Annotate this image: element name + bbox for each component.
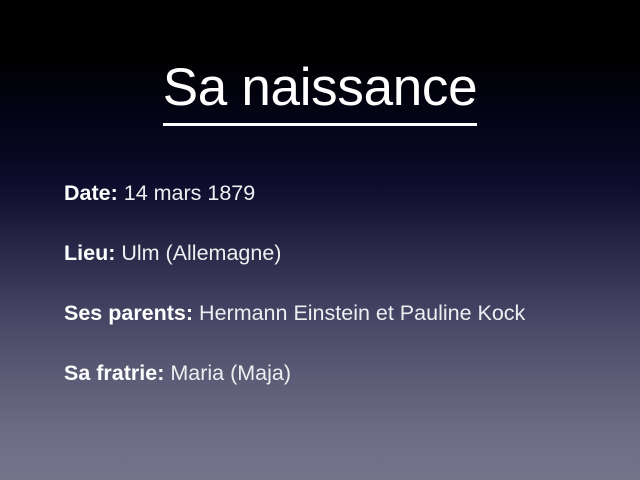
fact-value-fratrie: Maria (Maja) <box>170 361 291 385</box>
fact-row-date: Date: 14 mars 1879 <box>64 178 546 208</box>
fact-label-date: Date: <box>64 181 118 205</box>
fact-row-fratrie: Sa fratrie: Maria (Maja) <box>64 358 546 388</box>
fact-row-lieu: Lieu: Ulm (Allemagne) <box>64 238 546 268</box>
fact-value-parents: Hermann Einstein et Pauline Kock <box>199 301 525 325</box>
presentation-slide: Sa naissance Date: 14 mars 1879 Lieu: Ul… <box>0 0 640 480</box>
fact-value-lieu: Ulm (Allemagne) <box>121 241 281 265</box>
fact-row-parents: Ses parents: Hermann Einstein et Pauline… <box>64 298 546 328</box>
fact-value-date: 14 mars 1879 <box>124 181 255 205</box>
fact-label-parents: Ses parents: <box>64 301 193 325</box>
fact-label-lieu: Lieu: <box>64 241 115 265</box>
fact-label-fratrie: Sa fratrie: <box>64 361 164 385</box>
slide-body: Date: 14 mars 1879 Lieu: Ulm (Allemagne)… <box>64 178 546 388</box>
slide-title: Sa naissance <box>0 59 640 126</box>
slide-title-text: Sa naissance <box>163 59 478 126</box>
